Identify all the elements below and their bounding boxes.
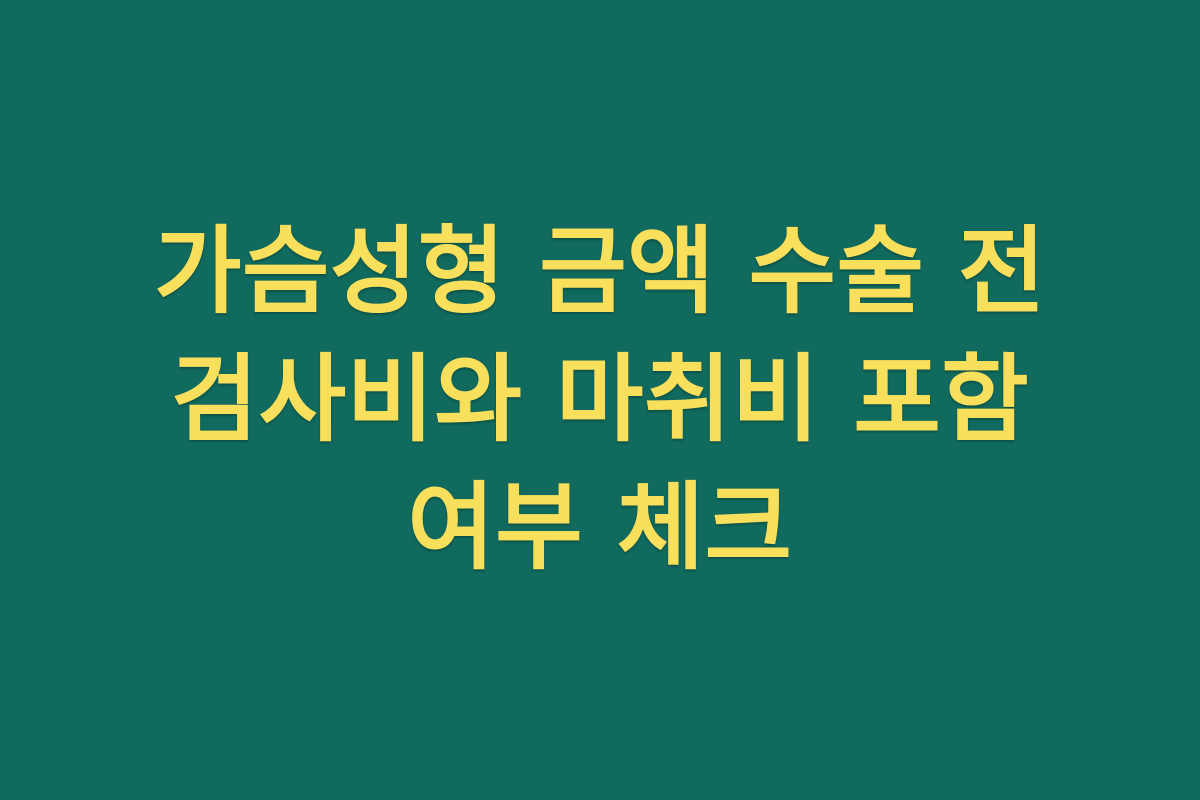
banner-headline: 가슴성형 금액 수술 전 검사비와 마취비 포함 여부 체크: [70, 208, 1130, 592]
banner-card: 가슴성형 금액 수술 전 검사비와 마취비 포함 여부 체크: [0, 0, 1200, 800]
